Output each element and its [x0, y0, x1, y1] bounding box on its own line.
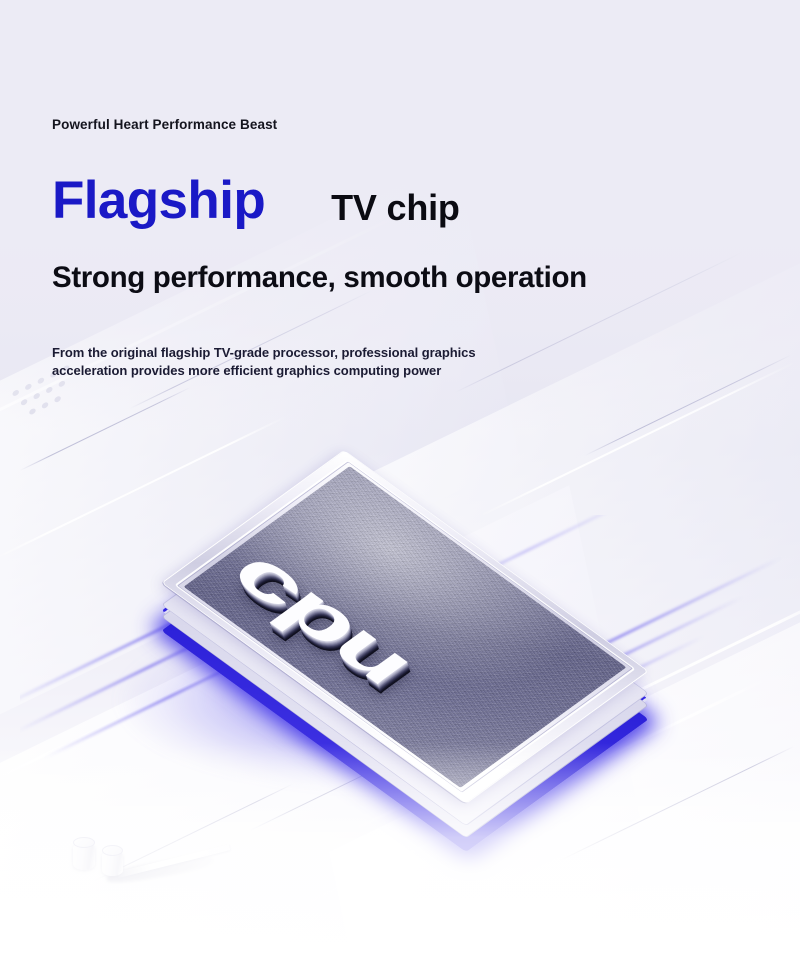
body-copy: From the original flagship TV-grade proc… — [52, 344, 572, 381]
body-copy-line-2: acceleration provides more efficient gra… — [52, 362, 572, 380]
headline-accent: Flagship — [52, 174, 265, 227]
headline-rest: TV chip — [331, 190, 460, 226]
headline-row: Flagship TV chip — [52, 174, 460, 227]
subheadline: Strong performance, smooth operation — [52, 261, 587, 295]
bottom-fade-overlay — [0, 743, 800, 953]
body-copy-line-1: From the original flagship TV-grade proc… — [52, 344, 572, 362]
hero-banner: cpu Powerful Heart Performance Beast Fla… — [0, 0, 800, 953]
eyebrow-text: Powerful Heart Performance Beast — [52, 117, 277, 132]
